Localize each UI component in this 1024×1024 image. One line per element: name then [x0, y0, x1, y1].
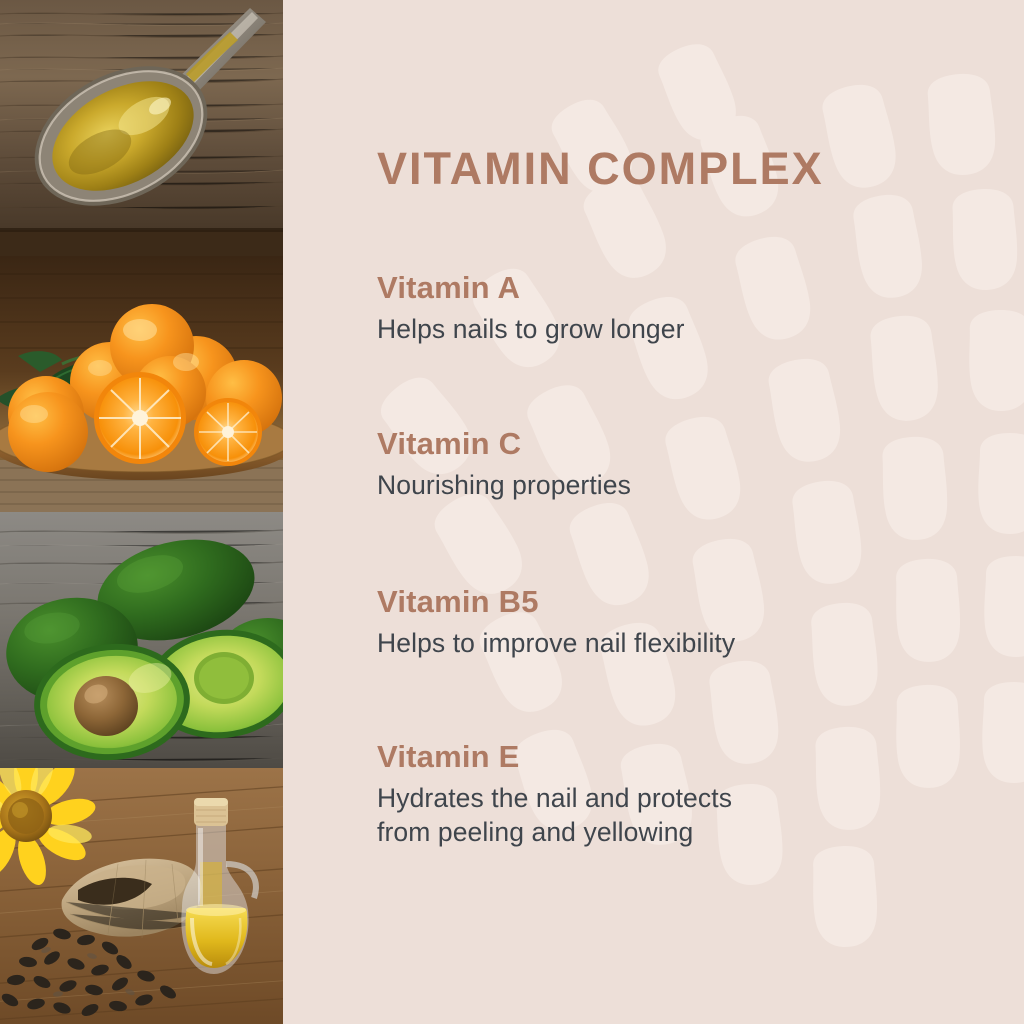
photo-panel-avocado [0, 512, 283, 768]
photo-panel-oil [0, 0, 283, 256]
content-column: VITAMIN COMPLEX Vitamin A Helps nails to… [377, 0, 1024, 1024]
vitamin-name: Vitamin A [377, 270, 937, 306]
vitamin-name: Vitamin E [377, 739, 937, 775]
vitamin-item-b5: Vitamin B5 Helps to improve nail flexibi… [377, 584, 937, 660]
photo-strip [0, 0, 283, 1024]
vitamin-complex-infographic: VITAMIN COMPLEX Vitamin A Helps nails to… [0, 0, 1024, 1024]
vitamin-name: Vitamin C [377, 426, 937, 462]
vitamin-item-a: Vitamin A Helps nails to grow longer [377, 270, 937, 346]
vitamin-description: Helps nails to grow longer [377, 312, 937, 346]
photo-panel-oranges [0, 256, 283, 512]
photo-panel-sunflower [0, 768, 283, 1024]
page-title: VITAMIN COMPLEX [377, 146, 824, 191]
vitamin-item-c: Vitamin C Nourishing properties [377, 426, 937, 502]
vitamin-description: Nourishing properties [377, 468, 937, 502]
vitamin-item-e: Vitamin E Hydrates the nail and protects… [377, 739, 937, 850]
vitamin-description: Hydrates the nail and protects from peel… [377, 781, 937, 850]
vitamin-name: Vitamin B5 [377, 584, 937, 620]
vitamin-description: Helps to improve nail flexibility [377, 626, 937, 660]
